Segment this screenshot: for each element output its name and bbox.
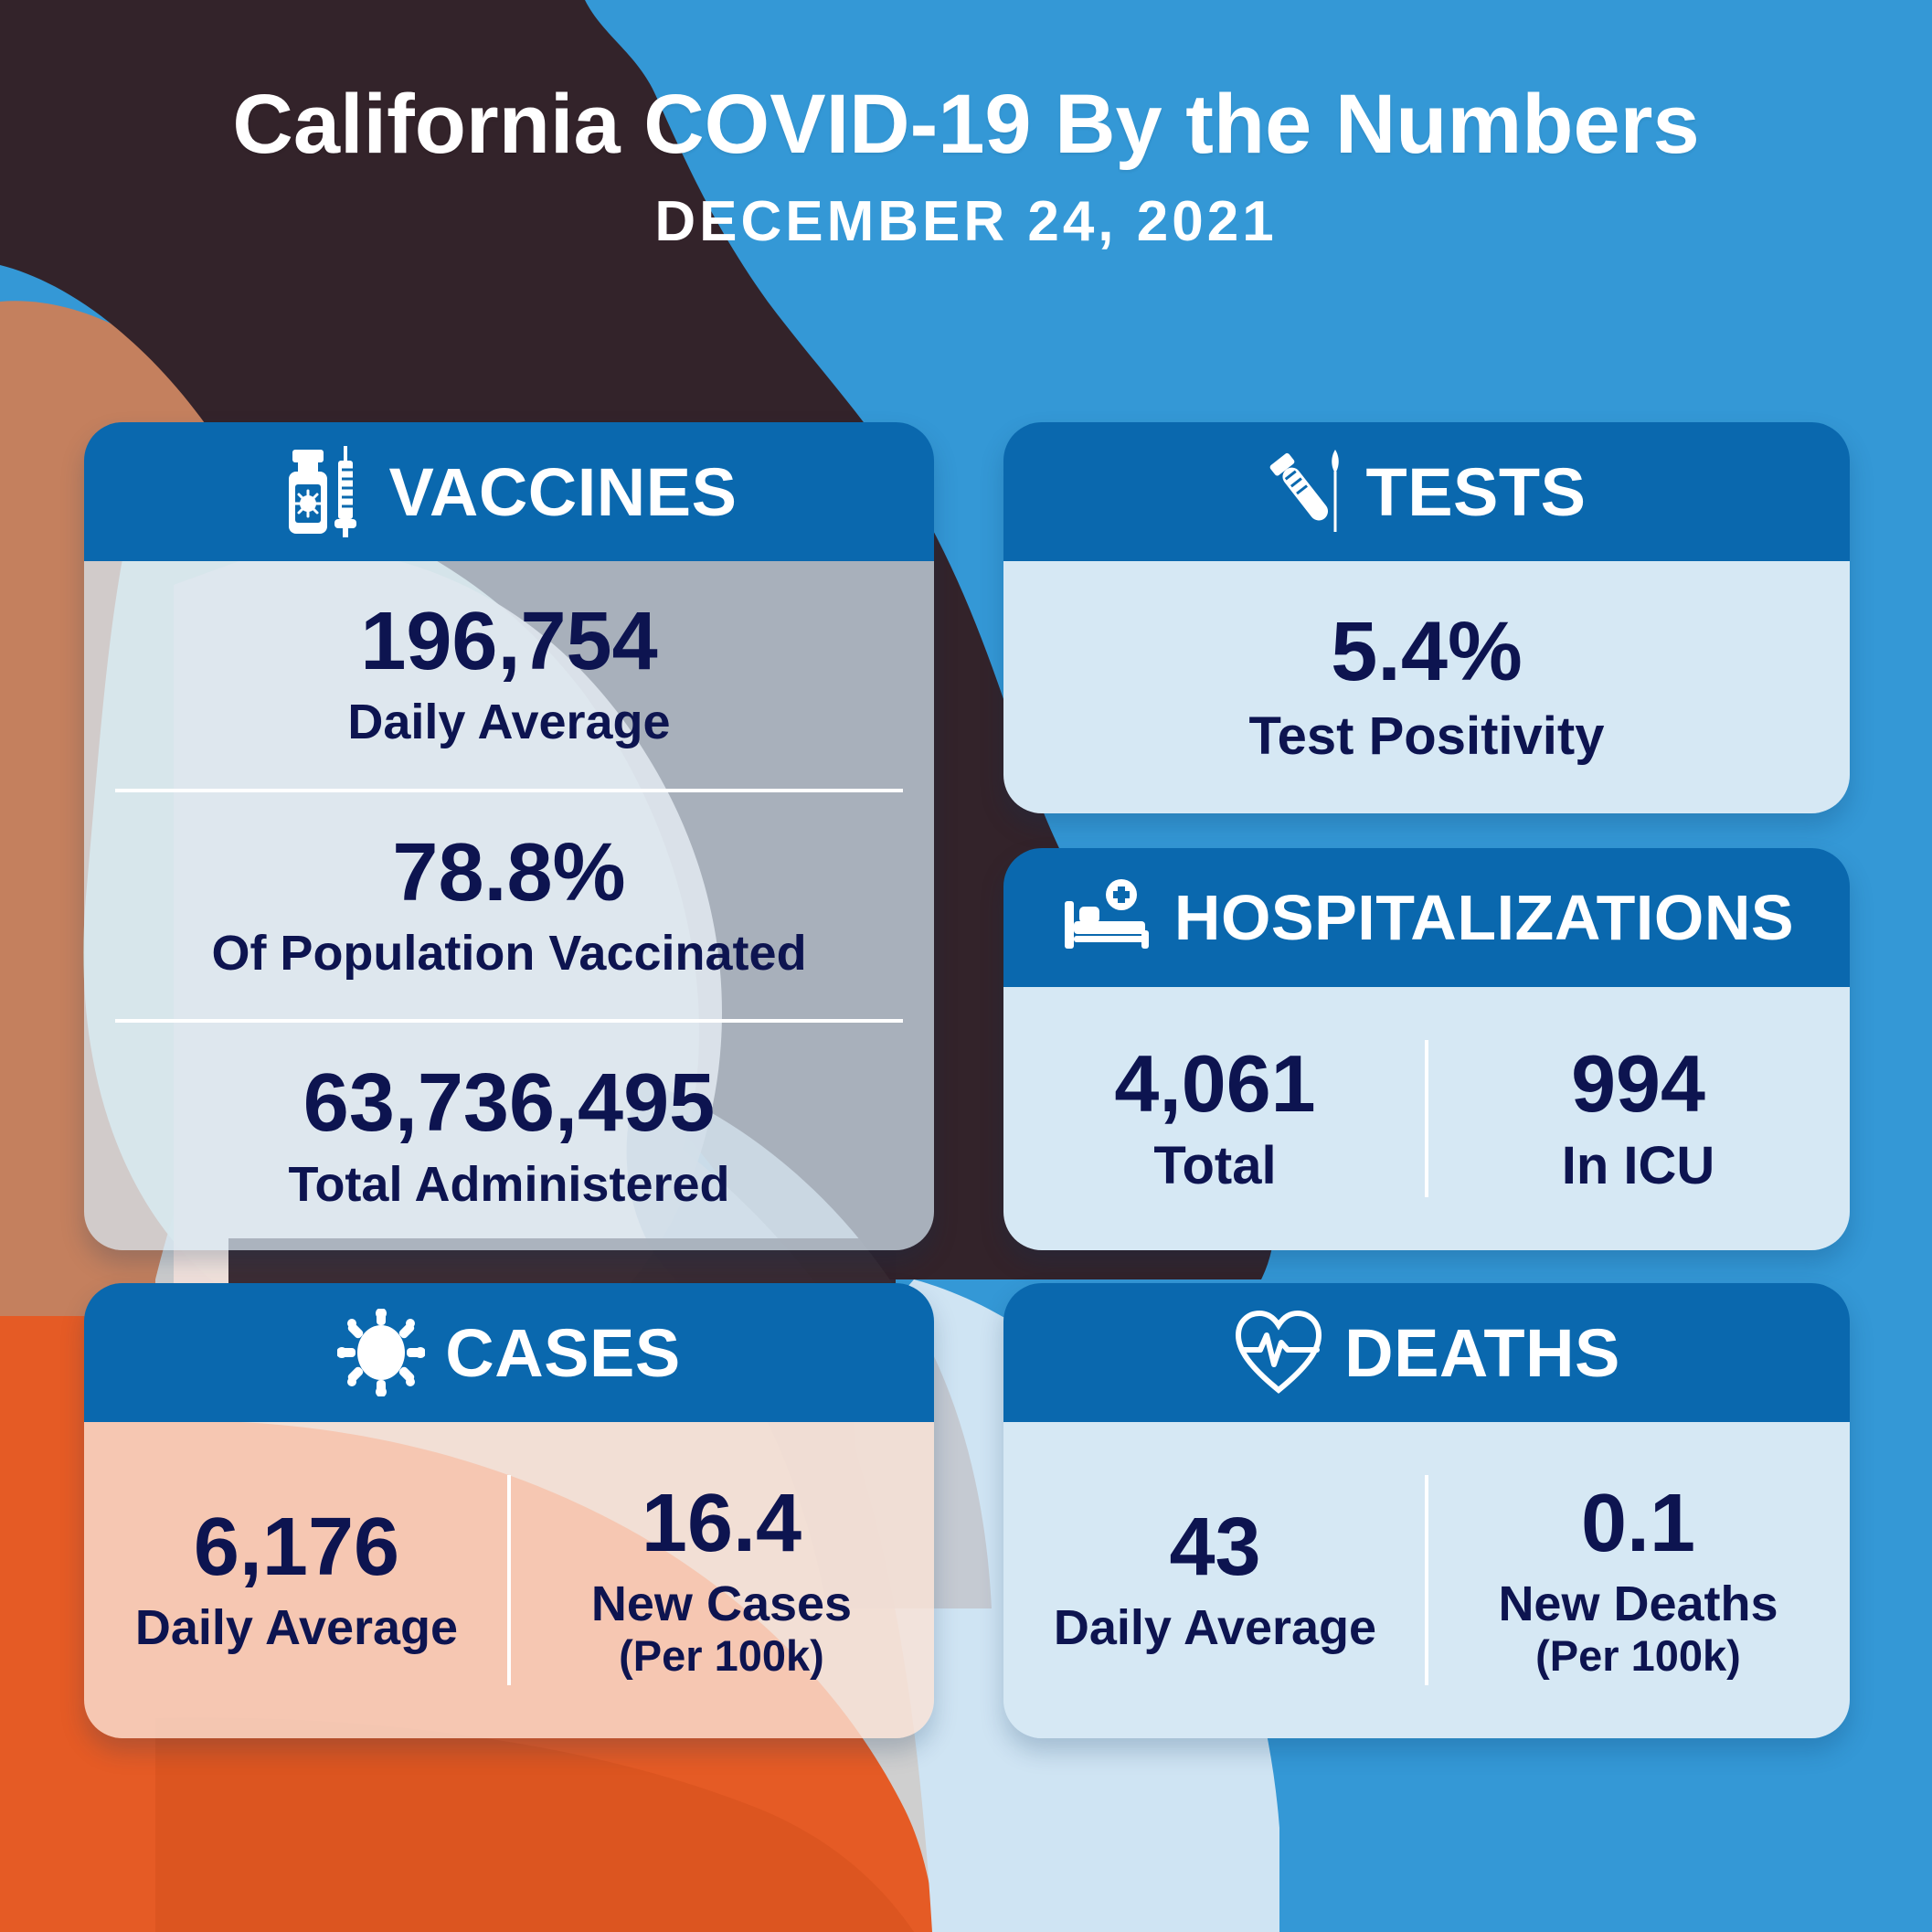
stat-row: 63,736,495 Total Administered [84,1023,934,1250]
card-cases-header: CASES [84,1283,934,1422]
stat-value: 78.8% [392,831,625,917]
stat-value: 43 [1169,1505,1260,1591]
card-hospitalizations-body: 4,061 Total 994 In ICU [1003,987,1850,1250]
card-tests-body: 5.4% Test Positivity [1003,561,1850,813]
card-deaths-body: 43 Daily Average 0.1 New Deaths (Per 100… [1003,1422,1850,1738]
stat-value: 4,061 [1114,1042,1315,1126]
stat-label: New Cases [591,1577,852,1631]
stat-value: 994 [1571,1042,1705,1126]
stat-value: 63,736,495 [303,1061,715,1147]
card-vaccines: VACCINES 196,754 Daily Average 78.8% Of … [84,422,934,1250]
stat-label: Of Population Vaccinated [211,927,806,981]
stat-column: 0.1 New Deaths (Per 100k) [1427,1422,1850,1738]
stat-value: 5.4% [1331,609,1523,696]
stat-column: 6,176 Daily Average [84,1422,509,1738]
infographic-canvas: California COVID-19 By the Numbers DECEM… [0,0,1932,1932]
stat-label: In ICU [1562,1137,1715,1195]
stat-row: 196,754 Daily Average [84,561,934,789]
stat-row: 78.8% Of Population Vaccinated [84,792,934,1020]
vaccine-vial-syringe-icon [281,444,369,539]
stat-value: 16.4 [642,1481,801,1567]
stat-label: Total Administered [288,1158,729,1212]
stat-column: 994 In ICU [1427,987,1850,1250]
stat-column: 16.4 New Cases (Per 100k) [509,1422,934,1738]
divider-vertical [1425,1040,1428,1197]
card-tests-header: TESTS [1003,422,1850,561]
card-deaths-header: DEATHS [1003,1283,1850,1422]
test-tube-swab-icon [1268,446,1346,537]
card-vaccines-header: VACCINES [84,422,934,561]
card-hospitalizations-header: HOSPITALIZATIONS [1003,848,1850,987]
card-tests-title: TESTS [1366,453,1587,531]
card-cases: CASES 6,176 Daily Average 16.4 New Cases… [84,1283,934,1738]
stat-label: Test Positivity [1249,707,1605,766]
card-cases-title: CASES [445,1314,680,1392]
stat-column: 43 Daily Average [1003,1422,1427,1738]
divider-vertical [507,1475,511,1685]
card-cases-body: 6,176 Daily Average 16.4 New Cases (Per … [84,1422,934,1738]
card-vaccines-title: VACCINES [389,453,738,531]
stat-label: Total [1153,1137,1276,1195]
stat-label: Daily Average [135,1601,458,1655]
stat-sublabel: (Per 100k) [1535,1632,1741,1680]
hospital-bed-icon [1059,879,1154,956]
stat-column: 5.4% Test Positivity [1003,561,1850,813]
stat-label: Daily Average [1054,1601,1376,1655]
stat-sublabel: (Per 100k) [619,1632,824,1680]
card-deaths: DEATHS 43 Daily Average 0.1 New Deaths (… [1003,1283,1850,1738]
stat-value: 6,176 [194,1505,399,1591]
card-deaths-title: DEATHS [1344,1314,1620,1392]
card-vaccines-body: 196,754 Daily Average 78.8% Of Populatio… [84,561,934,1250]
card-hospitalizations: HOSPITALIZATIONS 4,061 Total 994 In ICU [1003,848,1850,1250]
card-hospitalizations-title: HOSPITALIZATIONS [1174,881,1794,954]
card-tests: TESTS 5.4% Test Positivity [1003,422,1850,813]
divider-vertical [1425,1475,1428,1685]
stat-label: Daily Average [347,695,670,749]
stat-label: New Deaths [1498,1577,1778,1631]
stat-column: 4,061 Total [1003,987,1427,1250]
virus-icon [337,1309,425,1396]
stat-value: 0.1 [1581,1481,1695,1567]
heart-pulse-icon [1233,1310,1324,1396]
stat-value: 196,754 [360,600,657,685]
